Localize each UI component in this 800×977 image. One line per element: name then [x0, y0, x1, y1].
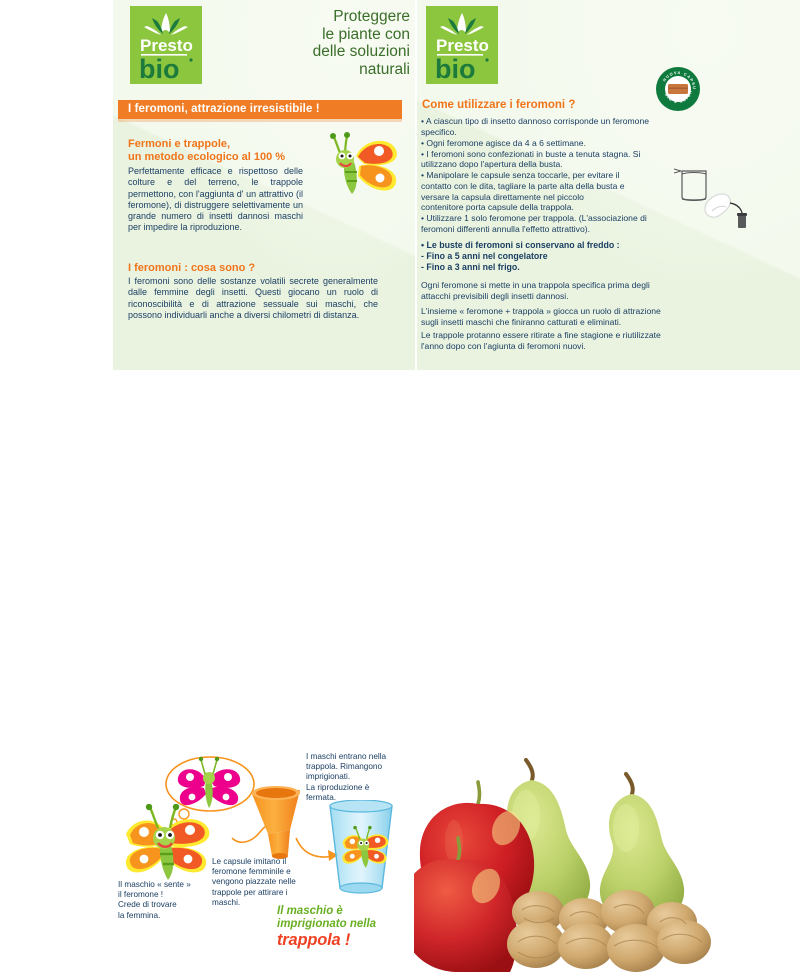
svg-text:bio: bio [435, 54, 476, 84]
left-subtitle-1: Fermoni e trappole, un metodo ecologico … [128, 138, 308, 164]
left-subtitle-1-line1: Fermoni e trappole, [128, 138, 308, 151]
butterfly-icon [312, 128, 404, 202]
presto-bio-logo-left: Presto bio [130, 6, 202, 84]
trap-glass-icon [322, 800, 400, 900]
right-paragraph-1: Ogni feromone si mette in una trappola s… [421, 280, 676, 301]
right-bold-block: • Le buste di feromoni si conservano al … [421, 240, 671, 273]
fruit-photo [414, 746, 800, 972]
svg-text:Presto: Presto [436, 36, 489, 55]
capsule-handling-diagram-icon [672, 163, 750, 231]
left-body-1: Perfettamente efficace e rispettoso dell… [128, 166, 303, 234]
right-bullet-list: • A ciascun tipo di insetto dannoso corr… [421, 116, 671, 235]
page-headline: Proteggere le piante con delle soluzioni… [305, 8, 410, 78]
left-body-2: I feromoni sono delle sostanze volatili … [128, 276, 378, 321]
caption-capsule: Le capsule imitano il feromone femminile… [212, 857, 322, 908]
flyer-page: Presto bio Presto bio Proteggere le pian… [0, 0, 800, 600]
slogan-line-2: imprigionato nella [277, 918, 417, 931]
slogan-line-1: Il maschio è [277, 905, 417, 918]
right-paragraph-2: L'insieme « feromone + trappola » giocca… [421, 306, 676, 327]
left-subtitle-2: I feromoni : cosa sono ? [128, 262, 388, 275]
bottom-illustration-area: Il maschio « sente » il feromone ! Crede… [0, 372, 800, 600]
caption-trap: I maschi entrano nella trappola. Rimango… [306, 752, 426, 803]
bullet-item: • A ciascun tipo di insetto dannoso corr… [421, 116, 671, 137]
bold-line: - Fino a 5 anni nel congelatore [421, 251, 671, 262]
left-subtitle-1-line2: un metodo ecologico al 100 % [128, 151, 308, 164]
bold-line: - Fino a 3 anni nel frigo. [421, 262, 671, 273]
left-section-titlebar: I feromoni, attrazione irresistibile ! [118, 100, 402, 119]
bullet-item: • Utilizzare 1 solo feromone per trappol… [421, 213, 671, 234]
slogan-block: Il maschio è imprigionato nella trappola… [277, 905, 417, 950]
bullet-item: • I feromoni sono confezionati in buste … [421, 149, 671, 170]
bold-line: • Le buste di feromoni si conservano al … [421, 240, 671, 251]
svg-text:Presto: Presto [140, 36, 193, 55]
nuova-capsula-seal-icon: NUOVA CAPSULA BIO & NATURALE [655, 66, 701, 112]
presto-bio-logo-right: Presto bio [426, 6, 498, 84]
svg-text:bio: bio [139, 54, 180, 84]
right-paragraph-3: Le trappole protanno essere ritirate a f… [421, 330, 676, 351]
slogan-line-3: trappola ! [277, 931, 417, 950]
male-butterfly-icon [118, 804, 216, 884]
bullet-item: • Ogni feromone agisce da 4 a 6 settiman… [421, 138, 671, 149]
bullet-item: • Manipolare le capsule senza toccarle, … [421, 170, 626, 212]
right-section-title: Come utilizzare i feromoni ? [422, 99, 575, 111]
